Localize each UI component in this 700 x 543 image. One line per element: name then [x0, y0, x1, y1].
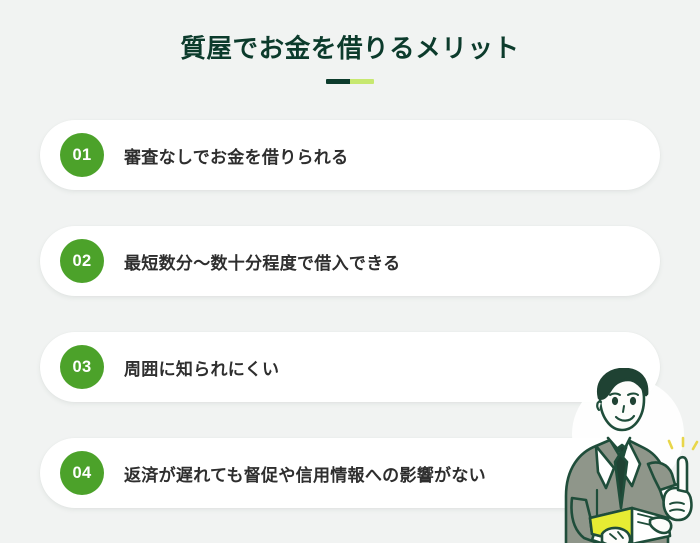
benefit-card-02[interactable]: 02 最短数分〜数十分程度で借入できる: [40, 226, 660, 296]
benefit-card-04[interactable]: 04 返済が遅れても督促や信用情報への影響がない: [40, 438, 660, 508]
heading-block: 質屋でお金を借りるメリット: [0, 34, 700, 84]
infographic-canvas: 質屋でお金を借りるメリット 01 審査なしでお金を借りられる 02 最短数分〜数…: [0, 0, 700, 543]
benefit-number-badge: 04: [60, 451, 104, 495]
accent-segment-light: [350, 79, 374, 84]
benefit-card-01[interactable]: 01 審査なしでお金を借りられる: [40, 120, 660, 190]
benefit-number-badge: 01: [60, 133, 104, 177]
benefit-number-badge: 03: [60, 345, 104, 389]
page-title: 質屋でお金を借りるメリット: [0, 34, 700, 65]
benefit-card-list: 01 審査なしでお金を借りられる 02 最短数分〜数十分程度で借入できる 03 …: [40, 120, 660, 508]
benefit-number-badge: 02: [60, 239, 104, 283]
accent-segment-dark: [326, 79, 350, 84]
benefit-label: 返済が遅れても督促や信用情報への影響がない: [124, 461, 486, 486]
benefit-label: 最短数分〜数十分程度で借入できる: [124, 249, 400, 274]
benefit-label: 周囲に知られにくい: [124, 355, 279, 380]
benefit-label: 審査なしでお金を借りられる: [124, 143, 348, 168]
sparkle-icon: [669, 438, 697, 449]
benefit-card-03[interactable]: 03 周囲に知られにくい: [40, 332, 660, 402]
title-accent-bar: [326, 79, 374, 84]
